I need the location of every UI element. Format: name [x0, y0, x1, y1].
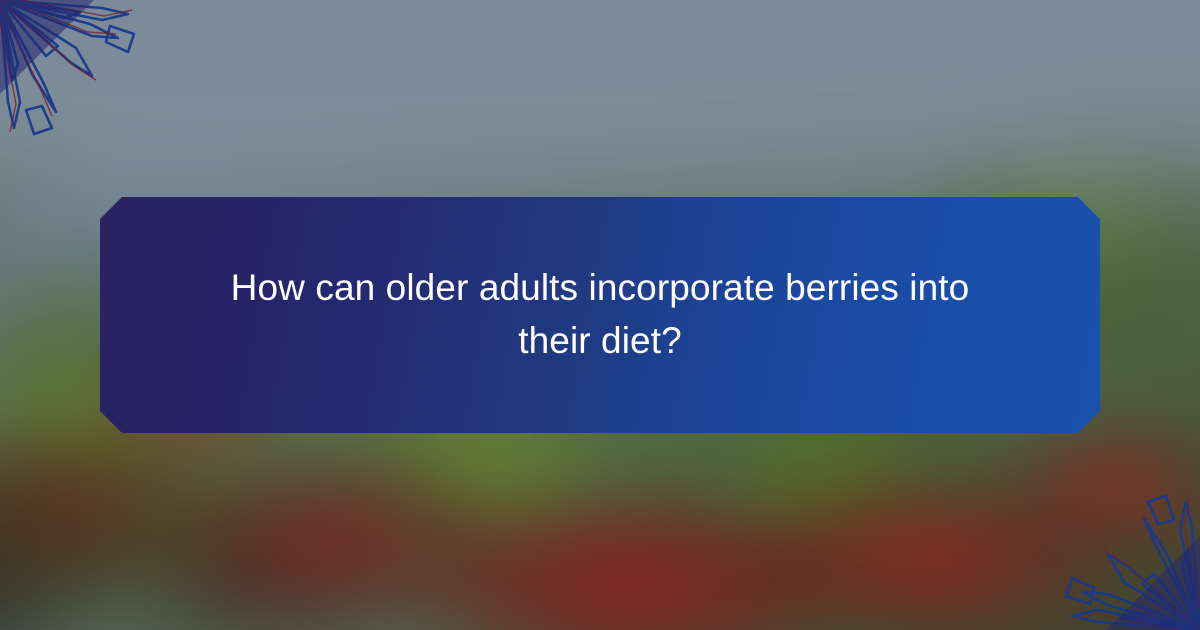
quote-graphic-canvas: How can older adults incorporate berries…	[0, 0, 1200, 630]
quote-card: How can older adults incorporate berries…	[100, 197, 1100, 433]
quote-text: How can older adults incorporate berries…	[200, 262, 1000, 367]
